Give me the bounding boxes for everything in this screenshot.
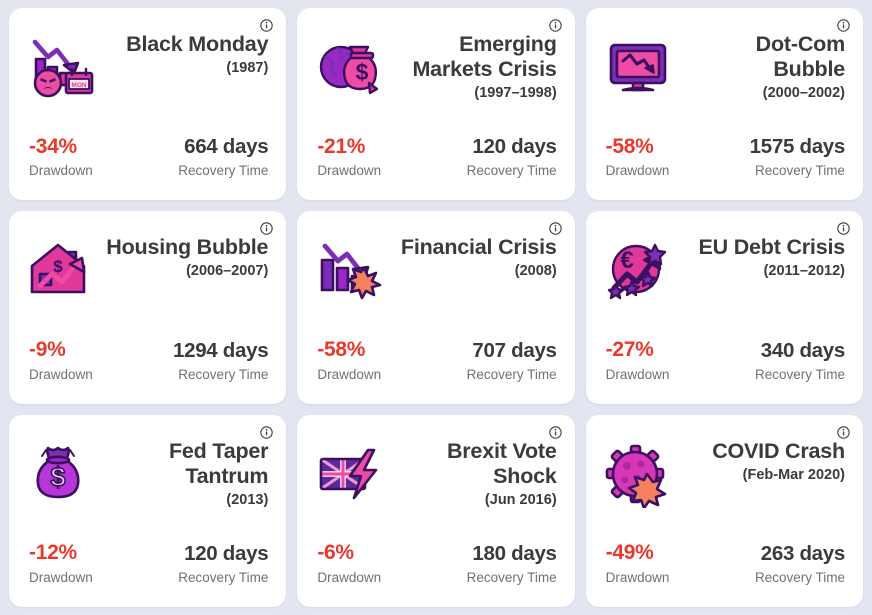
globe-money-bag-icon: $ bbox=[313, 30, 387, 104]
event-title: Dot-Com Bubble bbox=[682, 32, 845, 82]
event-title: EU Debt Crisis bbox=[682, 235, 845, 260]
drawdown-label: Drawdown bbox=[606, 568, 670, 589]
recovery-label: Recovery Time bbox=[467, 365, 557, 386]
info-icon[interactable] bbox=[549, 19, 562, 32]
info-icon[interactable] bbox=[549, 222, 562, 235]
card-black-monday[interactable]: MON Black Monday (1987) -34% Drawdown 66… bbox=[9, 8, 286, 200]
recovery-value: 1294 days bbox=[173, 339, 268, 363]
recovery-stat: 707 days Recovery Time bbox=[467, 339, 557, 386]
recovery-stat: 180 days Recovery Time bbox=[467, 542, 557, 589]
card-header: $ Fed Taper Tantrum (2013) bbox=[25, 429, 270, 512]
info-icon[interactable] bbox=[549, 426, 562, 439]
drawdown-value: -27% bbox=[606, 338, 670, 363]
card-title-block: Housing Bubble (2006–2007) bbox=[105, 233, 270, 283]
info-icon[interactable] bbox=[260, 426, 273, 439]
recovery-value: 180 days bbox=[472, 542, 556, 566]
recovery-label: Recovery Time bbox=[755, 161, 845, 182]
info-icon[interactable] bbox=[837, 426, 850, 439]
card-header: € EU Debt Crisis (2011–2012) bbox=[602, 225, 847, 307]
event-title: Brexit Vote Shock bbox=[393, 439, 556, 489]
dollar-glyph: $ bbox=[53, 257, 63, 276]
event-title: COVID Crash bbox=[682, 439, 845, 464]
event-title: Financial Crisis bbox=[393, 235, 556, 260]
recovery-stat: 120 days Recovery Time bbox=[467, 135, 557, 182]
card-stats: -9% Drawdown 1294 days Recovery Time bbox=[25, 338, 270, 388]
falling-bars-explosion-icon bbox=[313, 233, 387, 307]
event-title: Housing Bubble bbox=[105, 235, 268, 260]
recovery-value: 1575 days bbox=[750, 135, 845, 159]
event-title: Black Monday bbox=[105, 32, 268, 57]
recovery-value: 664 days bbox=[184, 135, 268, 159]
event-period: (2006–2007) bbox=[105, 261, 268, 283]
info-icon[interactable] bbox=[837, 222, 850, 235]
drawdown-stat: -58% Drawdown bbox=[606, 135, 670, 183]
virus-explosion-icon bbox=[602, 437, 676, 511]
recovery-label: Recovery Time bbox=[755, 568, 845, 589]
event-period: (2000–2002) bbox=[682, 83, 845, 105]
info-icon[interactable] bbox=[260, 19, 273, 32]
card-header: Brexit Vote Shock (Jun 2016) bbox=[313, 429, 558, 512]
card-eu-debt-crisis[interactable]: € EU Debt Crisis (2011–2012) -27% Drawdo… bbox=[586, 211, 863, 403]
event-title: Fed Taper Tantrum bbox=[105, 439, 268, 489]
event-period: (2013) bbox=[105, 490, 268, 512]
recovery-value: 120 days bbox=[472, 135, 556, 159]
card-fed-taper-tantrum[interactable]: $ Fed Taper Tantrum (2013) -12% Drawdown… bbox=[9, 415, 286, 607]
falling-chart-angry-calendar-icon: MON bbox=[25, 30, 99, 104]
drawdown-stat: -27% Drawdown bbox=[606, 338, 670, 386]
card-brexit-vote-shock[interactable]: Brexit Vote Shock (Jun 2016) -6% Drawdow… bbox=[297, 415, 574, 607]
recovery-value: 707 days bbox=[472, 339, 556, 363]
drawdown-value: -12% bbox=[29, 541, 93, 566]
event-period: (1997–1998) bbox=[393, 83, 556, 105]
drawdown-value: -21% bbox=[317, 135, 381, 160]
event-period: (2008) bbox=[393, 261, 556, 283]
card-header: Dot-Com Bubble (2000–2002) bbox=[602, 22, 847, 105]
card-dot-com-bubble[interactable]: Dot-Com Bubble (2000–2002) -58% Drawdown… bbox=[586, 8, 863, 200]
card-title-block: Financial Crisis (2008) bbox=[393, 233, 558, 283]
card-header: MON Black Monday (1987) bbox=[25, 22, 270, 104]
card-stats: -49% Drawdown 263 days Recovery Time bbox=[602, 541, 847, 591]
recovery-stat: 1575 days Recovery Time bbox=[750, 135, 845, 182]
drawdown-value: -49% bbox=[606, 541, 670, 566]
card-stats: -58% Drawdown 707 days Recovery Time bbox=[313, 338, 558, 388]
info-icon[interactable] bbox=[837, 19, 850, 32]
drawdown-label: Drawdown bbox=[317, 161, 381, 182]
info-icon[interactable] bbox=[260, 222, 273, 235]
recovery-stat: 263 days Recovery Time bbox=[755, 542, 845, 589]
euro-glyph: € bbox=[620, 247, 633, 274]
card-stats: -58% Drawdown 1575 days Recovery Time bbox=[602, 135, 847, 185]
drawdown-value: -58% bbox=[317, 338, 381, 363]
market-crash-card-grid: MON Black Monday (1987) -34% Drawdown 66… bbox=[0, 0, 872, 615]
recovery-label: Recovery Time bbox=[178, 161, 268, 182]
dollar-glyph: $ bbox=[356, 59, 369, 85]
drawdown-value: -34% bbox=[29, 135, 93, 160]
card-housing-bubble[interactable]: $ Housing Bubble (2006–2007) -9% Drawdow… bbox=[9, 211, 286, 403]
recovery-label: Recovery Time bbox=[178, 365, 268, 386]
card-title-block: Black Monday (1987) bbox=[105, 30, 270, 80]
drawdown-label: Drawdown bbox=[317, 568, 381, 589]
recovery-stat: 1294 days Recovery Time bbox=[173, 339, 268, 386]
event-period: (2011–2012) bbox=[682, 261, 845, 283]
card-header: Financial Crisis (2008) bbox=[313, 225, 558, 307]
drawdown-stat: -12% Drawdown bbox=[29, 541, 93, 589]
card-financial-crisis[interactable]: Financial Crisis (2008) -58% Drawdown 70… bbox=[297, 211, 574, 403]
drawdown-label: Drawdown bbox=[29, 161, 93, 182]
drawdown-label: Drawdown bbox=[317, 365, 381, 386]
event-period: (Feb-Mar 2020) bbox=[682, 465, 845, 487]
event-period: (Jun 2016) bbox=[393, 490, 556, 512]
recovery-label: Recovery Time bbox=[467, 568, 557, 589]
calendar-badge-label: MON bbox=[71, 82, 86, 89]
card-title-block: EU Debt Crisis (2011–2012) bbox=[682, 233, 847, 283]
card-emerging-markets-crisis[interactable]: $ Emerging Markets Crisis (1997–1998) -2… bbox=[297, 8, 574, 200]
card-header: COVID Crash (Feb-Mar 2020) bbox=[602, 429, 847, 511]
card-header: $ Emerging Markets Crisis (1997–1998) bbox=[313, 22, 558, 105]
house-dollar-rising-arrow-icon: $ bbox=[25, 233, 99, 307]
card-title-block: Fed Taper Tantrum (2013) bbox=[105, 437, 270, 512]
drawdown-stat: -9% Drawdown bbox=[29, 338, 93, 386]
money-bag-icon: $ bbox=[25, 437, 99, 511]
drawdown-value: -58% bbox=[606, 135, 670, 160]
drawdown-label: Drawdown bbox=[606, 365, 670, 386]
card-stats: -27% Drawdown 340 days Recovery Time bbox=[602, 338, 847, 388]
drawdown-stat: -34% Drawdown bbox=[29, 135, 93, 183]
drawdown-label: Drawdown bbox=[29, 568, 93, 589]
card-title-block: Emerging Markets Crisis (1997–1998) bbox=[393, 30, 558, 105]
recovery-stat: 340 days Recovery Time bbox=[755, 339, 845, 386]
recovery-value: 120 days bbox=[184, 542, 268, 566]
drawdown-label: Drawdown bbox=[29, 365, 93, 386]
card-stats: -34% Drawdown 664 days Recovery Time bbox=[25, 135, 270, 185]
drawdown-label: Drawdown bbox=[606, 161, 670, 182]
card-covid-crash[interactable]: COVID Crash (Feb-Mar 2020) -49% Drawdown… bbox=[586, 415, 863, 607]
card-title-block: Brexit Vote Shock (Jun 2016) bbox=[393, 437, 558, 512]
drawdown-stat: -58% Drawdown bbox=[317, 338, 381, 386]
recovery-value: 340 days bbox=[761, 339, 845, 363]
card-title-block: COVID Crash (Feb-Mar 2020) bbox=[682, 437, 847, 487]
recovery-label: Recovery Time bbox=[467, 161, 557, 182]
uk-flag-lightning-icon bbox=[313, 437, 387, 511]
drawdown-stat: -21% Drawdown bbox=[317, 135, 381, 183]
monitor-declining-chart-icon bbox=[602, 30, 676, 104]
drawdown-value: -6% bbox=[317, 541, 381, 566]
event-period: (1987) bbox=[105, 58, 268, 80]
drawdown-value: -9% bbox=[29, 338, 93, 363]
drawdown-stat: -49% Drawdown bbox=[606, 541, 670, 589]
card-stats: -21% Drawdown 120 days Recovery Time bbox=[313, 135, 558, 185]
recovery-stat: 120 days Recovery Time bbox=[178, 542, 268, 589]
euro-stars-rising-arrow-icon: € bbox=[602, 233, 676, 307]
recovery-label: Recovery Time bbox=[178, 568, 268, 589]
card-stats: -12% Drawdown 120 days Recovery Time bbox=[25, 541, 270, 591]
event-title: Emerging Markets Crisis bbox=[393, 32, 556, 82]
dollar-glyph: $ bbox=[50, 462, 65, 492]
card-stats: -6% Drawdown 180 days Recovery Time bbox=[313, 541, 558, 591]
card-title-block: Dot-Com Bubble (2000–2002) bbox=[682, 30, 847, 105]
card-header: $ Housing Bubble (2006–2007) bbox=[25, 225, 270, 307]
recovery-value: 263 days bbox=[761, 542, 845, 566]
recovery-stat: 664 days Recovery Time bbox=[178, 135, 268, 182]
drawdown-stat: -6% Drawdown bbox=[317, 541, 381, 589]
recovery-label: Recovery Time bbox=[755, 365, 845, 386]
